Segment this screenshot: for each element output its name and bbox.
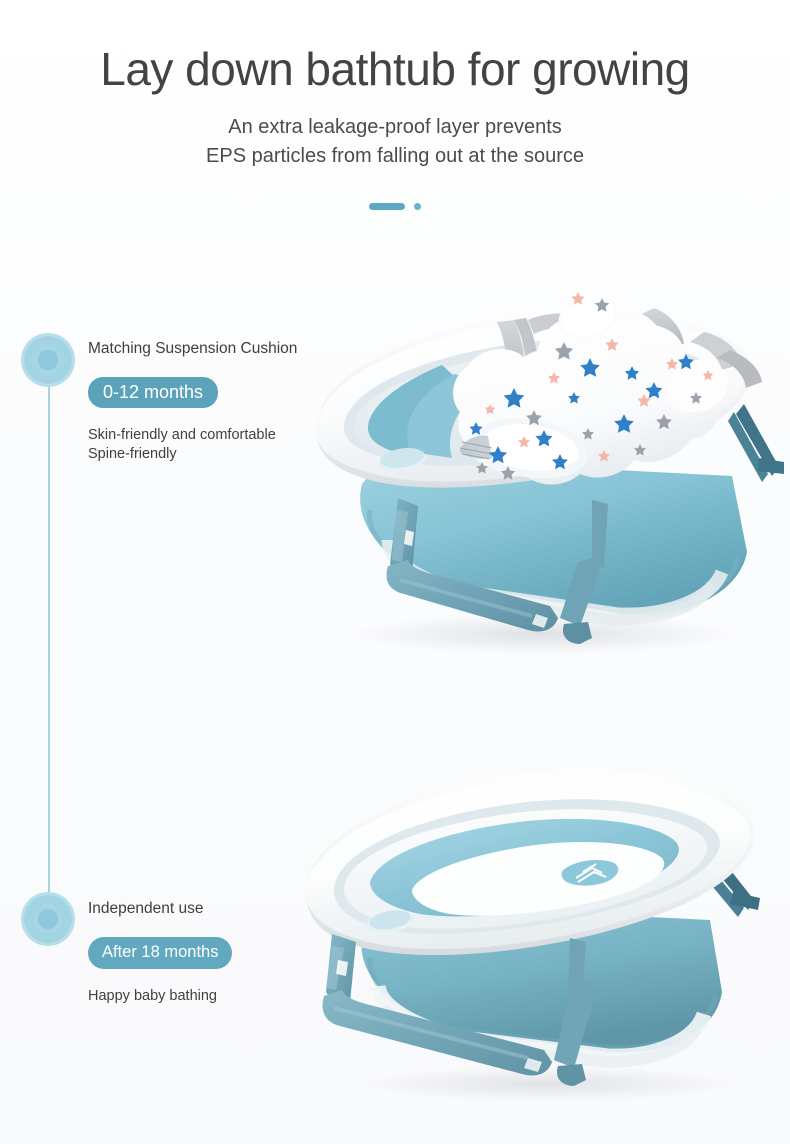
- timeline-marker-bottom: [21, 892, 75, 946]
- annotation-subtext-line-2: Spine-friendly: [88, 445, 297, 464]
- product-photo-bathtub-with-cushion: [292, 262, 790, 657]
- product-photo-bathtub-empty: [278, 752, 790, 1107]
- annotation-subtext: Happy baby bathing: [88, 987, 232, 1006]
- page-subtitle: An extra leakage-proof layer prevents EP…: [0, 113, 790, 171]
- age-range-badge: After 18 months: [88, 937, 232, 969]
- age-range-badge: 0-12 months: [88, 377, 218, 409]
- pager-active-bar[interactable]: [369, 203, 405, 210]
- subtitle-line-2: EPS particles from falling out at the so…: [0, 142, 790, 171]
- annotation-subtext-line-1: Happy baby bathing: [88, 987, 232, 1006]
- header: Lay down bathtub for growing An extra le…: [0, 0, 790, 171]
- pager-indicator[interactable]: [0, 203, 790, 210]
- timeline-connector-line: [48, 378, 50, 906]
- subtitle-line-1: An extra leakage-proof layer prevents: [0, 113, 790, 142]
- annotation-heading: Independent use: [88, 900, 232, 919]
- annotation-subtext-line-1: Skin-friendly and comfortable: [88, 426, 297, 445]
- pager-inactive-dot[interactable]: [414, 203, 421, 210]
- annotation-subtext: Skin-friendly and comfortable Spine-frie…: [88, 426, 297, 464]
- annotation-heading: Matching Suspension Cushion: [88, 340, 297, 359]
- product-infographic-page: Lay down bathtub for growing An extra le…: [0, 0, 790, 1144]
- timeline-marker-top: [21, 333, 75, 387]
- page-title: Lay down bathtub for growing: [0, 44, 790, 95]
- annotation-block-second: Independent use After 18 months Happy ba…: [88, 900, 232, 1006]
- annotation-block-first: Matching Suspension Cushion 0-12 months …: [88, 340, 297, 465]
